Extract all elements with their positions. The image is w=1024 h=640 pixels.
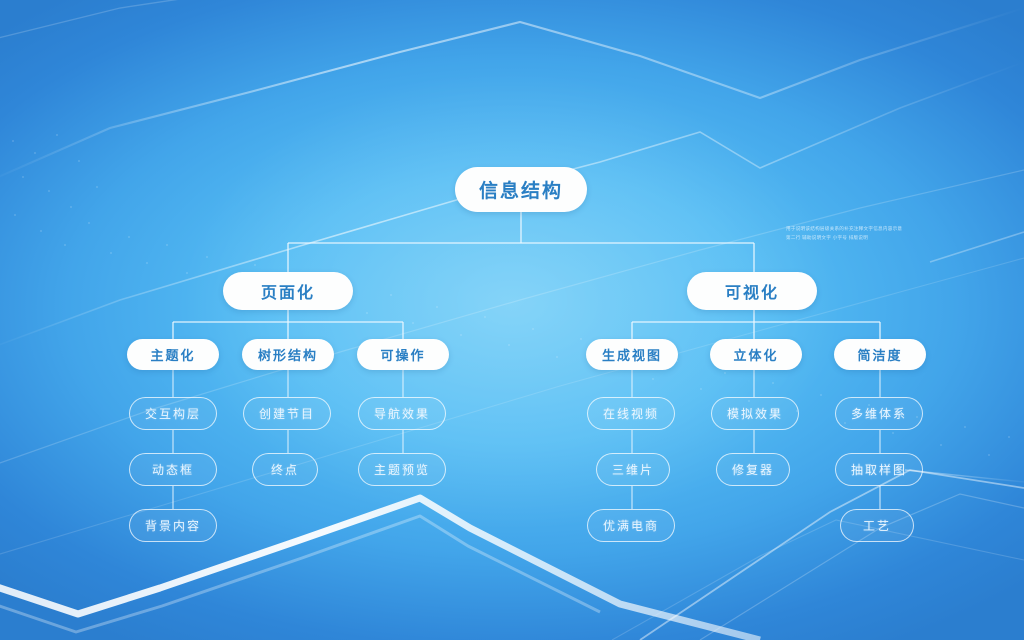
tree-node-root[interactable]: 信息结构	[455, 167, 587, 212]
tree-leaf-4-0[interactable]: 模拟效果	[711, 397, 799, 430]
tree-node-level3-4[interactable]: 立体化	[710, 339, 802, 370]
tree-leaf-4-1[interactable]: 修复器	[716, 453, 790, 486]
tree-leaf-0-0[interactable]: 交互构层	[129, 397, 217, 430]
tree-node-level3-1[interactable]: 树形结构	[242, 339, 334, 370]
tree-leaf-3-0[interactable]: 在线视频	[587, 397, 675, 430]
diagram-canvas: 信息结构 页面化 可视化 主题化 树形结构 可操作 生成视图 立体化 简洁度 交…	[0, 0, 1024, 640]
tree-node-level3-3[interactable]: 生成视图	[586, 339, 678, 370]
tree-leaf-3-1[interactable]: 三维片	[596, 453, 670, 486]
tree-leaf-5-1[interactable]: 抽取样图	[835, 453, 923, 486]
tree-node-level3-5[interactable]: 简洁度	[834, 339, 926, 370]
tree-leaf-2-1[interactable]: 主题预览	[358, 453, 446, 486]
tree-leaf-2-0[interactable]: 导航效果	[358, 397, 446, 430]
tree-leaf-0-2[interactable]: 背景内容	[129, 509, 217, 542]
tree-leaf-1-0[interactable]: 创建节目	[243, 397, 331, 430]
tree-node-level2-0[interactable]: 页面化	[223, 272, 353, 310]
tree-leaf-5-2[interactable]: 工艺	[840, 509, 914, 542]
tree-leaf-3-2[interactable]: 优满电商	[587, 509, 675, 542]
tree-node-level3-0[interactable]: 主题化	[127, 339, 219, 370]
tree-leaf-5-0[interactable]: 多维体系	[835, 397, 923, 430]
tree-connectors	[0, 0, 1024, 640]
tree-node-level3-2[interactable]: 可操作	[357, 339, 449, 370]
tree-node-level2-1[interactable]: 可视化	[687, 272, 817, 310]
tree-leaf-1-1[interactable]: 终点	[252, 453, 318, 486]
tree-leaf-0-1[interactable]: 动态框	[129, 453, 217, 486]
